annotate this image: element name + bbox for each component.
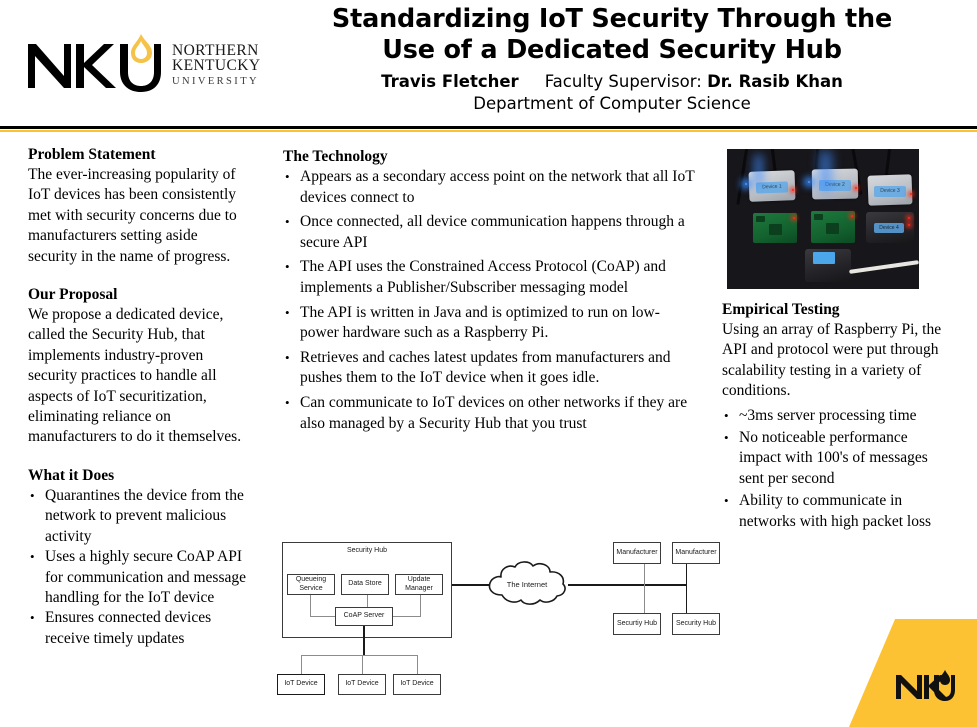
list-item: Ability to communicate in networks with … xyxy=(722,491,950,532)
logo-word-kentucky: KENTUCKY xyxy=(172,57,260,74)
department-line: Department of Computer Science xyxy=(262,93,962,114)
connector-internet-to-bus xyxy=(568,584,687,586)
status-led xyxy=(793,217,795,219)
connector xyxy=(417,655,418,675)
node-iot-device-2: IoT Device xyxy=(338,674,386,695)
status-led xyxy=(908,224,910,226)
supervisor-label: Faculty Supervisor: xyxy=(545,72,702,91)
title-line-2: Use of a Dedicated Security Hub xyxy=(382,35,842,65)
raspberry-pi-board xyxy=(811,211,855,243)
spacer xyxy=(28,267,248,285)
device-label-4: Device 4 xyxy=(874,223,904,233)
nku-logo: NORTHERN KENTUCKY UNIVERSITY xyxy=(24,32,264,96)
status-led xyxy=(808,181,810,183)
status-led xyxy=(745,183,747,185)
list-item: No noticeable performance impact with 10… xyxy=(722,428,950,489)
heading-problem-statement: Problem Statement xyxy=(28,145,248,164)
node-coap-server: CoAP Server xyxy=(335,607,393,626)
node-data-store: Data Store xyxy=(341,574,389,595)
security-hub-label: Security Hub xyxy=(282,547,452,554)
list-empirical-testing: ~3ms server processing time No noticeabl… xyxy=(722,406,950,532)
connector xyxy=(390,616,421,617)
node-manufacturer-1: Manufacturer xyxy=(613,542,661,564)
cable xyxy=(736,149,748,205)
middle-column: The Technology Appears as a secondary ac… xyxy=(283,147,695,438)
architecture-diagram: Security Hub Queueing Service Data Store… xyxy=(272,534,712,714)
status-led xyxy=(910,193,912,195)
raspberry-pi-board xyxy=(753,213,797,243)
heading-empirical-testing: Empirical Testing xyxy=(722,300,950,319)
header-rule-black xyxy=(0,126,977,129)
byline: Travis FletcherFaculty Supervisor: Dr. R… xyxy=(262,71,962,92)
list-item: ~3ms server processing time xyxy=(722,406,950,426)
hub-indicator xyxy=(813,252,835,264)
connector-iot-bus xyxy=(301,655,418,656)
list-item: The API uses the Constrained Access Prot… xyxy=(283,257,695,298)
text-our-proposal: We propose a dedicated device, called th… xyxy=(28,305,248,448)
title-line-1: Standardizing IoT Security Through the xyxy=(332,4,892,34)
status-led xyxy=(855,187,857,189)
nku-corner-logo xyxy=(894,670,956,702)
led-glow xyxy=(821,151,830,191)
connector xyxy=(420,594,421,617)
logo-word-university: UNIVERSITY xyxy=(172,76,259,87)
status-led xyxy=(908,217,910,219)
node-manufacturer-2: Manufacturer xyxy=(672,542,720,564)
status-led xyxy=(851,215,853,217)
header-rule-gold xyxy=(0,130,977,132)
node-update-manager: Update Manager xyxy=(395,574,443,595)
connector xyxy=(363,626,365,656)
node-queueing-service: Queueing Service xyxy=(287,574,335,595)
heading-our-proposal: Our Proposal xyxy=(28,285,248,304)
list-item: Quarantines the device from the network … xyxy=(28,486,248,547)
page-title: Standardizing IoT Security Through the U… xyxy=(262,4,962,66)
list-item: The API is written in Java and is optimi… xyxy=(283,303,695,344)
spacer xyxy=(28,448,248,466)
list-what-it-does: Quarantines the device from the network … xyxy=(28,486,248,649)
internet-label: The Internet xyxy=(492,580,562,589)
status-led xyxy=(792,189,794,191)
node-remote-security-hub-1: Securtiy Hub xyxy=(613,613,661,635)
poster-header: NORTHERN KENTUCKY UNIVERSITY Standardizi… xyxy=(0,0,977,126)
heading-what-it-does: What it Does xyxy=(28,466,248,485)
connector xyxy=(301,655,302,675)
list-item: Retrieves and caches latest updates from… xyxy=(283,348,695,389)
title-block: Standardizing IoT Security Through the U… xyxy=(262,4,962,114)
heading-the-technology: The Technology xyxy=(283,147,695,166)
list-item: Can communicate to IoT devices on other … xyxy=(283,393,695,434)
node-remote-security-hub-2: Security Hub xyxy=(672,613,720,635)
power-cable xyxy=(849,260,919,274)
list-item: Once connected, all device communication… xyxy=(283,212,695,253)
list-item: Uses a highly secure CoAP API for commun… xyxy=(28,547,248,608)
node-iot-device-1: IoT Device xyxy=(277,674,325,695)
device-label-3: Device 3 xyxy=(874,186,906,197)
connector xyxy=(310,594,311,617)
list-the-technology: Appears as a secondary access point on t… xyxy=(283,167,695,434)
supervisor-name: Dr. Rasib Khan xyxy=(707,72,843,91)
right-column: Empirical Testing Using an array of Rasp… xyxy=(722,300,950,534)
author-name: Travis Fletcher xyxy=(381,72,519,91)
list-item: Appears as a secondary access point on t… xyxy=(283,167,695,208)
node-iot-device-3: IoT Device xyxy=(393,674,441,695)
list-item: Ensures connected devices receive timely… xyxy=(28,608,248,649)
text-problem-statement: The ever-increasing popularity of IoT de… xyxy=(28,165,248,267)
led-glow xyxy=(755,155,762,185)
connector xyxy=(362,655,363,675)
testbed-photo: Device 1 Device 2 Device 3 Device 4 xyxy=(727,149,919,289)
left-column: Problem Statement The ever-increasing po… xyxy=(28,145,248,649)
text-empirical-testing: Using an array of Raspberry Pi, the API … xyxy=(722,320,950,402)
